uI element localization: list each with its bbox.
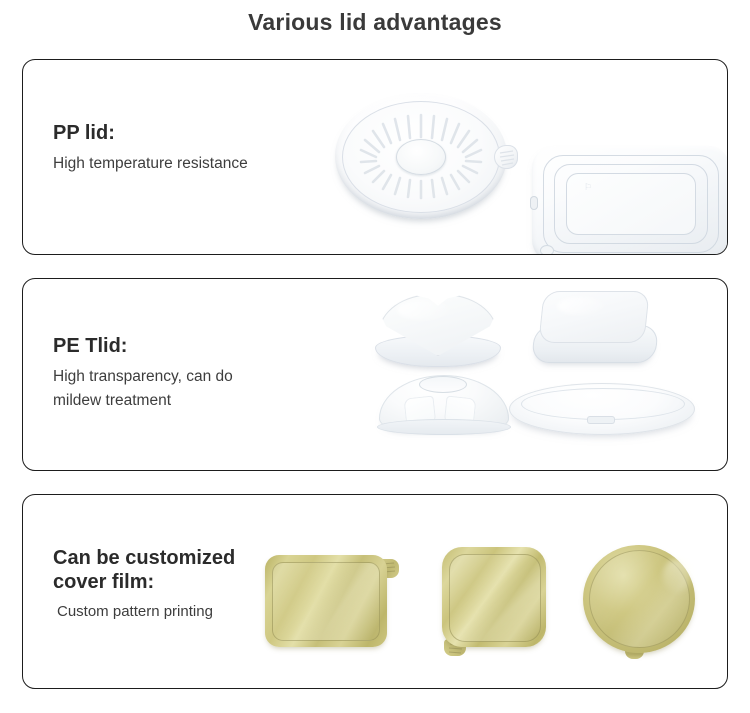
page-title: Various lid advantages [0,9,750,36]
rectangular-pp-lid-image: ⚐ [532,146,728,255]
dome-lid-image [375,375,515,441]
round-ribbed-pp-lid-image [335,93,515,228]
panel-pp-lid-subtitle: High temperature resistance [53,152,248,176]
square-dome-lid-image [531,289,661,369]
panel-pe-t-lid-subtitle: High transparency, can do mildew treatme… [53,365,233,413]
gold-round-foil-lid-image [579,543,711,665]
panel-pe-t-lid: PE Tlid: High transparency, can do milde… [22,278,728,471]
pp-round-lid-center-hub [396,139,446,175]
panel-cover-film: Can be customized cover film: Custom pat… [22,494,728,689]
gold-square-lid-inner-panel [449,554,541,642]
panel-pe-t-lid-text-block: PE Tlid: High transparency, can do milde… [53,335,233,413]
gold-rectangular-foil-lid-image [265,547,405,655]
panel-cover-film-subtitle: Custom pattern printing [53,600,235,623]
panel-pe-t-lid-heading: PE Tlid: [53,335,233,359]
pp-rect-lid-side-notch [530,196,538,210]
pp-rect-lid-corner-notch [540,245,554,255]
oval-flat-lid-image [509,383,697,439]
heart-shaped-lid-image [371,290,507,372]
dome-lid-lip [377,419,511,435]
panel-pp-lid-text-block: PP lid: High temperature resistance [53,122,248,176]
gold-square-foil-lid-image [438,545,568,663]
square-lid-gloss [557,297,605,315]
heart-lid-gloss [397,300,451,320]
oval-lid-notch [587,416,615,424]
pp-rect-lid-embossed-mark: ⚐ [584,182,592,193]
panel-pp-lid-heading: PP lid: [53,122,248,146]
gold-rect-lid-inner-panel [272,562,380,641]
panel-cover-film-text-block: Can be customized cover film: Custom pat… [53,547,235,623]
gold-round-lid-highlight [663,559,691,593]
panel-cover-film-heading: Can be customized cover film: [53,547,235,594]
panel-pp-lid: PP lid: High temperature resistance [22,59,728,255]
dome-lid-top-opening [419,376,467,393]
